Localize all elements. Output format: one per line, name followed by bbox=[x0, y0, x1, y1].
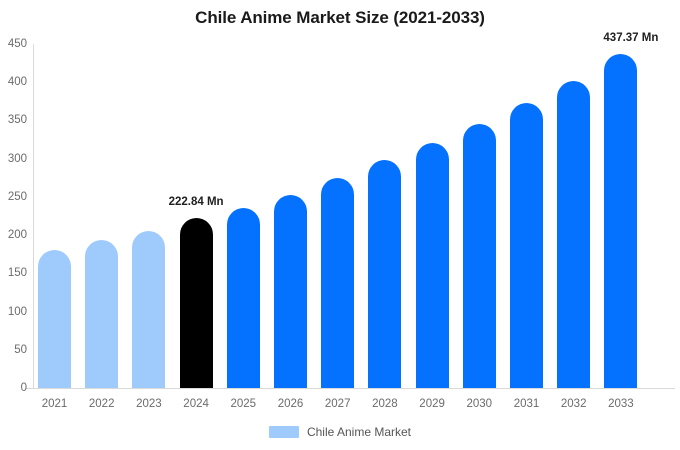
bar-2022[interactable] bbox=[85, 240, 118, 388]
bar-2032[interactable] bbox=[557, 81, 590, 388]
bar-2027[interactable] bbox=[321, 178, 354, 388]
x-axis-tick-2024: 2024 bbox=[180, 398, 213, 410]
chart-legend: Chile Anime Market bbox=[0, 425, 680, 439]
legend-swatch-chile-anime-market bbox=[269, 426, 299, 438]
x-axis-tick-2029: 2029 bbox=[416, 398, 449, 410]
y-axis-tick-450: 450 bbox=[0, 38, 27, 50]
x-axis-tick-2031: 2031 bbox=[510, 398, 543, 410]
bar-fill-2024[interactable] bbox=[180, 218, 213, 388]
x-axis-tick-2028: 2028 bbox=[368, 398, 401, 410]
x-axis-tick-2030: 2030 bbox=[463, 398, 496, 410]
x-axis-tick-2032: 2032 bbox=[557, 398, 590, 410]
bar-fill-2023[interactable] bbox=[132, 231, 165, 388]
bar-value-label-2024: 222.84 Mn bbox=[169, 196, 224, 208]
x-axis-tick-2025: 2025 bbox=[227, 398, 260, 410]
bar-fill-2028[interactable] bbox=[368, 160, 401, 388]
y-axis-tick-300: 300 bbox=[0, 153, 27, 165]
y-axis-tick-50: 50 bbox=[0, 344, 27, 356]
x-axis-tick-2026: 2026 bbox=[274, 398, 307, 410]
bar-fill-2030[interactable] bbox=[463, 124, 496, 388]
bar-fill-2026[interactable] bbox=[274, 195, 307, 388]
y-axis-tick-100: 100 bbox=[0, 306, 27, 318]
bar-fill-2032[interactable] bbox=[557, 81, 590, 388]
bar-2028[interactable] bbox=[368, 160, 401, 388]
y-axis-tick-150: 150 bbox=[0, 267, 27, 279]
bar-2029[interactable] bbox=[416, 143, 449, 388]
x-axis-tick-2023: 2023 bbox=[132, 398, 165, 410]
y-axis-tick-400: 400 bbox=[0, 76, 27, 88]
bar-2031[interactable] bbox=[510, 103, 543, 388]
bar-fill-2027[interactable] bbox=[321, 178, 354, 388]
bar-2030[interactable] bbox=[463, 124, 496, 388]
x-axis-tick-2033: 2033 bbox=[604, 398, 637, 410]
bar-fill-2021[interactable] bbox=[38, 250, 71, 388]
bar-fill-2031[interactable] bbox=[510, 103, 543, 388]
y-axis-tick-200: 200 bbox=[0, 229, 27, 241]
bar-2026[interactable] bbox=[274, 195, 307, 388]
bar-2024[interactable] bbox=[180, 218, 213, 388]
y-axis-tick-350: 350 bbox=[0, 114, 27, 126]
bar-fill-2025[interactable] bbox=[227, 208, 260, 388]
bar-2033[interactable] bbox=[604, 54, 637, 388]
bar-series: 202120222023222.84 Mn2024202520262027202… bbox=[33, 0, 672, 450]
bar-2021[interactable] bbox=[38, 250, 71, 388]
x-axis-tick-2027: 2027 bbox=[321, 398, 354, 410]
x-axis-tick-2021: 2021 bbox=[38, 398, 71, 410]
bar-2025[interactable] bbox=[227, 208, 260, 388]
bar-fill-2022[interactable] bbox=[85, 240, 118, 388]
legend-label-chile-anime-market: Chile Anime Market bbox=[307, 425, 411, 439]
y-axis-tick-250: 250 bbox=[0, 191, 27, 203]
x-axis-tick-2022: 2022 bbox=[85, 398, 118, 410]
bar-chart: Chile Anime Market Size (2021-2033) 4504… bbox=[0, 0, 680, 450]
bar-fill-2033[interactable] bbox=[604, 54, 637, 388]
y-axis-tick-0: 0 bbox=[0, 382, 27, 394]
bar-2023[interactable] bbox=[132, 231, 165, 388]
bar-fill-2029[interactable] bbox=[416, 143, 449, 388]
y-axis-tick-labels: 450400350300250200150100500 bbox=[0, 0, 27, 450]
bar-value-label-2033: 437.37 Mn bbox=[603, 32, 658, 44]
